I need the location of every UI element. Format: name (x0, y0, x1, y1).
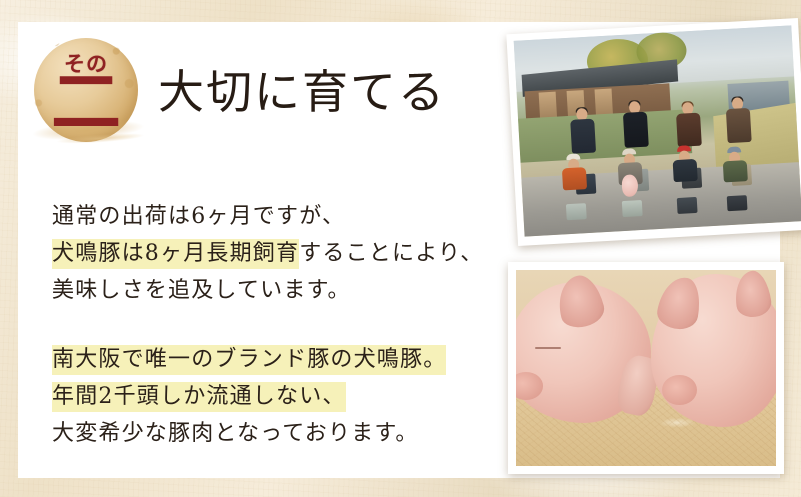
legs (727, 195, 748, 211)
torso (676, 112, 702, 146)
highlighted-text: 南大阪で唯一のブランド豚の犬鳴豚。 (52, 345, 446, 375)
torso (726, 107, 752, 142)
piglet-held (621, 174, 638, 197)
person-crouching (559, 155, 591, 221)
badge-number-label: 二 (30, 62, 142, 142)
grass (518, 110, 692, 163)
torso (673, 159, 698, 182)
legs (677, 197, 698, 214)
highlighted-text: 年間2千頭しか流通しない、 (52, 382, 346, 412)
section-header: その 二 大切に育てる (30, 36, 446, 148)
barn-door (594, 88, 612, 116)
photo-sleeping-piglets-image (516, 270, 776, 466)
legs (621, 200, 642, 217)
barn-door (539, 92, 557, 120)
body-copy: 通常の出荷は6ヶ月ですが、 犬鳴豚は8ヶ月長期飼育することにより、 美味しさを追… (52, 198, 492, 452)
torso (562, 167, 587, 190)
paragraph-1: 通常の出荷は6ヶ月ですが、 犬鳴豚は8ヶ月長期飼育することにより、 美味しさを追… (52, 198, 492, 309)
paragraph-2: 南大阪で唯一のブランド豚の犬鳴豚。 年間2千頭しか流通しない、 大変希少な豚肉と… (52, 341, 492, 452)
copy-line: 通常の出荷は6ヶ月ですが、 (52, 204, 345, 229)
section-number-badge: その 二 (30, 36, 142, 148)
photo-farm-staff-image (514, 25, 801, 236)
copy-line: 美味しさを追及しています。 (52, 278, 351, 303)
piglet (651, 274, 776, 427)
torso (623, 111, 649, 147)
highlighted-text: 犬鳴豚は8ヶ月長期飼育 (52, 239, 299, 269)
legs (566, 203, 587, 220)
person-crouching (615, 150, 647, 218)
photo-sleeping-piglets (508, 262, 784, 474)
page-title: 大切に育てる (158, 64, 446, 120)
piglet-eye (535, 347, 561, 349)
copy-line: 犬鳴豚は8ヶ月長期飼育することにより、 (52, 239, 483, 269)
person-crouching (670, 146, 702, 214)
person-crouching (720, 148, 751, 212)
copy-line: 年間2千頭しか流通しない、 (52, 382, 346, 412)
photo-farm-staff (506, 18, 801, 246)
copy-line: 南大阪で唯一のブランド豚の犬鳴豚。 (52, 345, 446, 375)
torso (570, 118, 596, 153)
copy-line: 大変希少な豚肉となっております。 (52, 421, 419, 446)
torso (723, 160, 748, 182)
copy-line-tail: することにより、 (299, 241, 483, 266)
